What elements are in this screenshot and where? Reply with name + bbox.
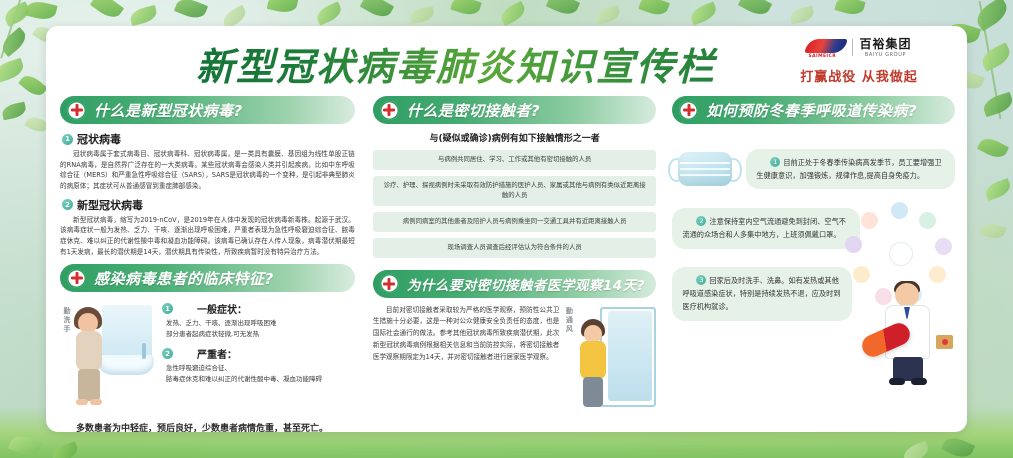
ventilation-illustration: 勤通风	[564, 305, 656, 417]
tip-row-2: 2注意保持室内空气流通避免到封闭、空气不流通的众场合和人多集中地方，上班须佩戴口…	[672, 208, 955, 249]
columns-wrapper: 什么是新型冠状病毒? 1 冠状病毒 冠状病毒属于套式病毒目、冠状病毒科、冠状病毒…	[46, 96, 967, 432]
medical-cross-icon	[380, 274, 399, 293]
poster-header: 新型冠状病毒肺炎知识宣传栏 SAIMEICR 百裕集团 BAIYU GROUP …	[46, 26, 967, 98]
clinical-features-text: 1 一般症状： 发热、乏力、干咳、逐渐出现呼吸困难 部分患者起病症状轻微,可无发…	[162, 299, 355, 417]
prevention-tip-1-text: 目前正处于冬春季传染病高发季节，员工要增强卫生健康意识，加强锻炼，规律作息,提高…	[756, 158, 941, 180]
prevention-tip-2: 2注意保持室内空气流通避免到封闭、空气不流通的众场合和人多集中地方，上班须佩戴口…	[672, 208, 860, 249]
first-aid-icon	[861, 212, 878, 229]
observation-paragraph: 目前对密切接触者采取较为严格的医学观察，预防性公共卫生措施十分必要，这是一种对公…	[373, 305, 560, 417]
symptom-general-row: 1 一般症状：	[162, 301, 355, 316]
bullet-number: 2	[162, 348, 173, 359]
bullet-number: 2	[62, 199, 73, 210]
symptom-severe-title: 严重者：	[197, 346, 237, 361]
section-title: 感染病毒患者的临床特征?	[94, 268, 274, 289]
clinical-features-block: 勤洗手 1 一般症状： 发热、乏力、干咳、逐渐出现呼吸困难 部分患者起病症状轻微…	[60, 299, 355, 417]
brand-mark-text: SAIMEICR	[808, 54, 836, 59]
symptom-general-title: 一般症状：	[197, 301, 247, 316]
medical-cross-icon	[67, 269, 86, 288]
face-mask-icon	[672, 146, 738, 192]
baiyu-logo-icon: SAIMEICR	[806, 39, 846, 57]
section-title: 什么是新型冠状病毒?	[94, 100, 243, 121]
subsection-coronavirus: 1 冠状病毒	[62, 131, 355, 147]
syringe-icon	[919, 212, 936, 229]
contact-type-item: 诊疗、护理、探视病例时未采取有效防护措施的医护人员、家属或其他与病例有类似近距离…	[373, 176, 657, 206]
doctor-icon	[891, 202, 908, 219]
contact-type-item: 现场调查人员调查后经评估认为符合条件的人员	[373, 238, 657, 258]
subsection-title: 新型冠状病毒	[77, 197, 143, 213]
section-title: 如何预防冬春季呼吸道传染病?	[706, 100, 917, 121]
tip-row-1: 1目前正处于冬春季传染病高发季节，员工要增强卫生健康意识，加强锻炼，规律作息,提…	[672, 146, 955, 192]
column-left: 什么是新型冠状病毒? 1 冠状病毒 冠状病毒属于套式病毒目、冠状病毒科、冠状病毒…	[46, 96, 365, 432]
handwashing-illustration: 勤洗手	[60, 299, 156, 417]
prevention-tip-3: 3回家后及时洗手、洗鼻。如有发热或其他呼吸道感染症状，特别是持续发热不退，应及时…	[672, 267, 852, 321]
section-header-what-is-ncov: 什么是新型冠状病毒?	[60, 96, 355, 124]
prevention-tip-1: 1目前正处于冬春季传染病高发季节，员工要增强卫生健康意识，加强锻炼，规律作息,提…	[746, 149, 955, 190]
bullet-number: 3	[696, 275, 706, 285]
symptom-severe-row: 2 严重者：	[162, 346, 355, 361]
clinical-note: 多数患者为中轻症，预后良好，少数患者病情危重，甚至死亡。	[60, 423, 355, 432]
tip-row-3: 3回家后及时洗手、洗鼻。如有发热或其他呼吸道感染症状，特别是持续发热不退，应及时…	[672, 267, 955, 387]
brand-name-en: BAIYU GROUP	[859, 52, 911, 58]
column-middle: 什么是密切接触者? 与(疑似或确诊)病例有如下接触情形之一者 与病例共同居住、学…	[365, 96, 665, 432]
stethoscope-icon	[935, 238, 952, 255]
poster-canvas: 新型冠状病毒肺炎知识宣传栏 SAIMEICR 百裕集团 BAIYU GROUP …	[0, 0, 1013, 458]
section-title: 什么是密切接触者?	[407, 100, 540, 121]
subsection-title: 冠状病毒	[77, 131, 121, 147]
observation-block: 目前对密切接触者采取较为严格的医学观察，预防性公共卫生措施十分必要，这是一种对公…	[373, 305, 657, 417]
novel-coronavirus-paragraph: 新型冠状病毒，缩写为2019-nCoV，是2019年在人体中发现的冠状病毒新毒株…	[60, 215, 355, 258]
close-contact-lead: 与(疑似或确诊)病例有如下接触情形之一者	[373, 131, 657, 144]
section-title: 为什么要对密切接触者医学观察14天?	[407, 274, 645, 294]
section-header-close-contact: 什么是密切接触者?	[373, 96, 657, 124]
coronavirus-paragraph: 冠状病毒属于套式病毒目、冠状病毒科、冠状病毒属，是一类具有囊膜、基因组为线性单股…	[60, 149, 355, 192]
bullet-number: 1	[62, 134, 73, 145]
symptom-general-text: 发热、乏力、干咳、逐渐出现呼吸困难 部分患者起病症状轻微,可无发热	[166, 318, 355, 339]
slogan-text: 打赢战役 从我做起	[775, 66, 943, 85]
contact-type-item: 与病例共同居住、学习、工作或其他有密切接触的人员	[373, 150, 657, 170]
medical-cross-icon	[67, 101, 86, 120]
section-header-prevention: 如何预防冬春季呼吸道传染病?	[672, 96, 955, 124]
brand-block: SAIMEICR 百裕集团 BAIYU GROUP 打赢战役 从我做起	[775, 38, 943, 85]
contact-type-item: 病例同病室的其他患者及陪护人员与病例乘坐同一交通工具并有近距离接触人员	[373, 212, 657, 232]
medical-cross-icon	[380, 101, 399, 120]
bullet-number: 2	[696, 216, 706, 226]
section-header-clinical-features: 感染病毒患者的临床特征?	[60, 264, 355, 292]
mask-icon	[845, 236, 862, 253]
content-board: 新型冠状病毒肺炎知识宣传栏 SAIMEICR 百裕集团 BAIYU GROUP …	[46, 26, 967, 432]
symptom-severe-text: 急性呼吸窘迫综合征、 脓毒症休克和难以纠正的代谢性酸中毒、凝血功能障碍	[166, 363, 355, 384]
prevention-tip-3-text: 回家后及时洗手、洗鼻。如有发热或其他呼吸道感染症状，特别是持续发热不退，应及时到…	[682, 276, 840, 312]
bullet-number: 1	[162, 303, 173, 314]
medical-cross-icon	[679, 101, 698, 120]
subsection-novel-coronavirus: 2 新型冠状病毒	[62, 197, 355, 213]
column-right: 如何预防冬春季呼吸道传染病? 1目前正处于冬春季传染病高发季节，员工要增强卫生健…	[664, 96, 967, 432]
section-header-14day-observation: 为什么要对密切接触者医学观察14天?	[373, 270, 657, 298]
page-title: 新型冠状病毒肺炎知识宣传栏	[106, 36, 806, 91]
brand-divider	[852, 39, 853, 56]
prevention-tip-2-text: 注意保持室内空气流通避免到封闭、空气不流通的众场合和人多集中地方，上班须佩戴口罩…	[682, 217, 846, 239]
bullet-number: 1	[770, 157, 780, 167]
handwashing-label: 勤洗手	[62, 307, 72, 334]
doctor-center-icon	[889, 242, 913, 266]
brand-name-cn: 百裕集团	[859, 38, 911, 51]
